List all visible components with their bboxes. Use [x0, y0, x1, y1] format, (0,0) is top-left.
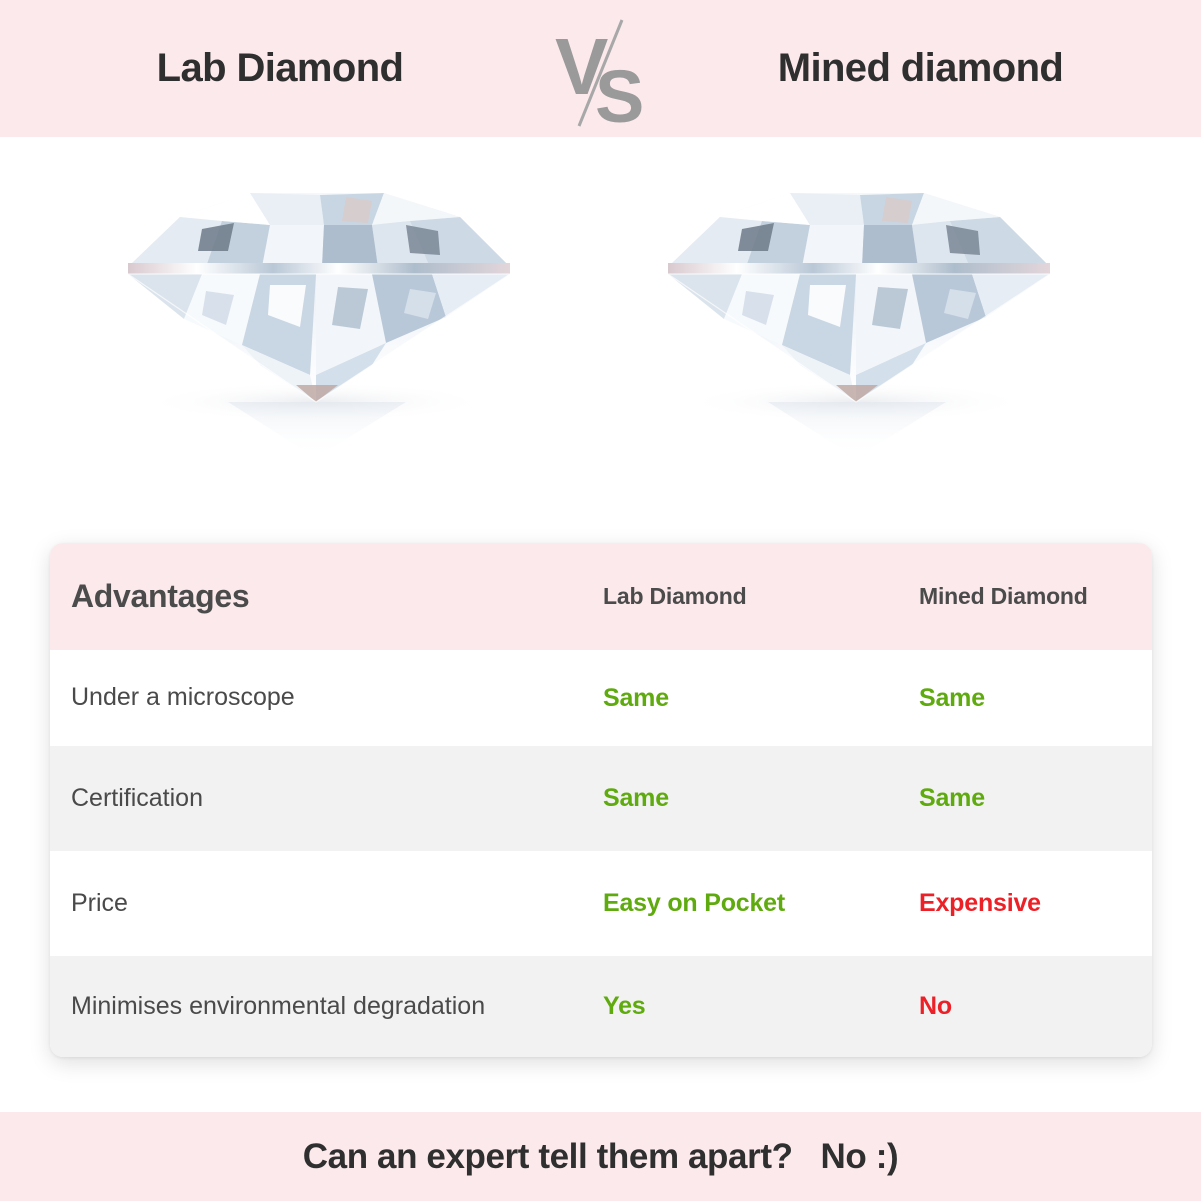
header-label-mined-diamond: Mined Diamond [919, 583, 1088, 610]
table-row: Price Easy on Pocket Expensive [50, 851, 1152, 956]
footer-text-wrap: Can an expert tell them apart? No :) [0, 1112, 1201, 1201]
row-feature-label: Certification [71, 781, 203, 817]
infographic-page: Lab Diamond Mined diamond V S [0, 0, 1201, 1201]
lab-diamond-title-wrap: Lab Diamond [0, 0, 560, 137]
lab-diamond-title: Lab Diamond [157, 46, 404, 91]
row-mined-cell: Same [871, 650, 1152, 746]
row-lab-cell: Same [541, 650, 871, 746]
row-lab-value: Easy on Pocket [603, 889, 785, 918]
versus-icon: V S [553, 18, 655, 128]
header-label-advantages: Advantages [71, 578, 249, 615]
row-mined-value: Expensive [919, 889, 1041, 918]
row-lab-value: Same [603, 684, 669, 713]
row-feature-label: Minimises environmental degradation [71, 989, 485, 1025]
header-cell-lab-diamond: Lab Diamond [541, 543, 871, 650]
footer-band: Can an expert tell them apart? No :) [0, 1112, 1201, 1201]
row-mined-cell: Same [871, 746, 1152, 851]
row-lab-value: Yes [603, 992, 646, 1021]
table-row: Under a microscope Same Same [50, 650, 1152, 746]
header-label-lab-diamond: Lab Diamond [603, 583, 746, 610]
row-feature-cell: Minimises environmental degradation [50, 956, 541, 1057]
row-mined-value: Same [919, 784, 985, 813]
row-mined-value: Same [919, 684, 985, 713]
diamond-image-row [0, 137, 1201, 532]
row-feature-label: Price [71, 886, 128, 922]
row-mined-value: No [919, 992, 952, 1021]
mined-diamond-image [650, 159, 1070, 459]
header-cell-advantages: Advantages [50, 543, 541, 650]
header-band: Lab Diamond Mined diamond V S [0, 0, 1201, 137]
row-lab-cell: Same [541, 746, 871, 851]
lab-diamond-image [110, 159, 530, 459]
row-lab-cell: Yes [541, 956, 871, 1057]
table-row: Minimises environmental degradation Yes … [50, 956, 1152, 1057]
row-feature-cell: Under a microscope [50, 650, 541, 746]
row-mined-cell: Expensive [871, 851, 1152, 956]
row-lab-cell: Easy on Pocket [541, 851, 871, 956]
row-lab-value: Same [603, 784, 669, 813]
row-feature-cell: Certification [50, 746, 541, 851]
row-mined-cell: No [871, 956, 1152, 1057]
mined-diamond-title-wrap: Mined diamond [640, 0, 1201, 137]
table-header-row: Advantages Lab Diamond Mined Diamond [50, 543, 1152, 650]
row-feature-cell: Price [50, 851, 541, 956]
header-cell-mined-diamond: Mined Diamond [871, 543, 1152, 650]
comparison-table: Advantages Lab Diamond Mined Diamond Und… [50, 543, 1152, 1057]
row-feature-label: Under a microscope [71, 680, 295, 716]
table-row: Certification Same Same [50, 746, 1152, 851]
mined-diamond-title: Mined diamond [778, 46, 1064, 91]
footer-question: Can an expert tell them apart? No :) [303, 1137, 898, 1177]
